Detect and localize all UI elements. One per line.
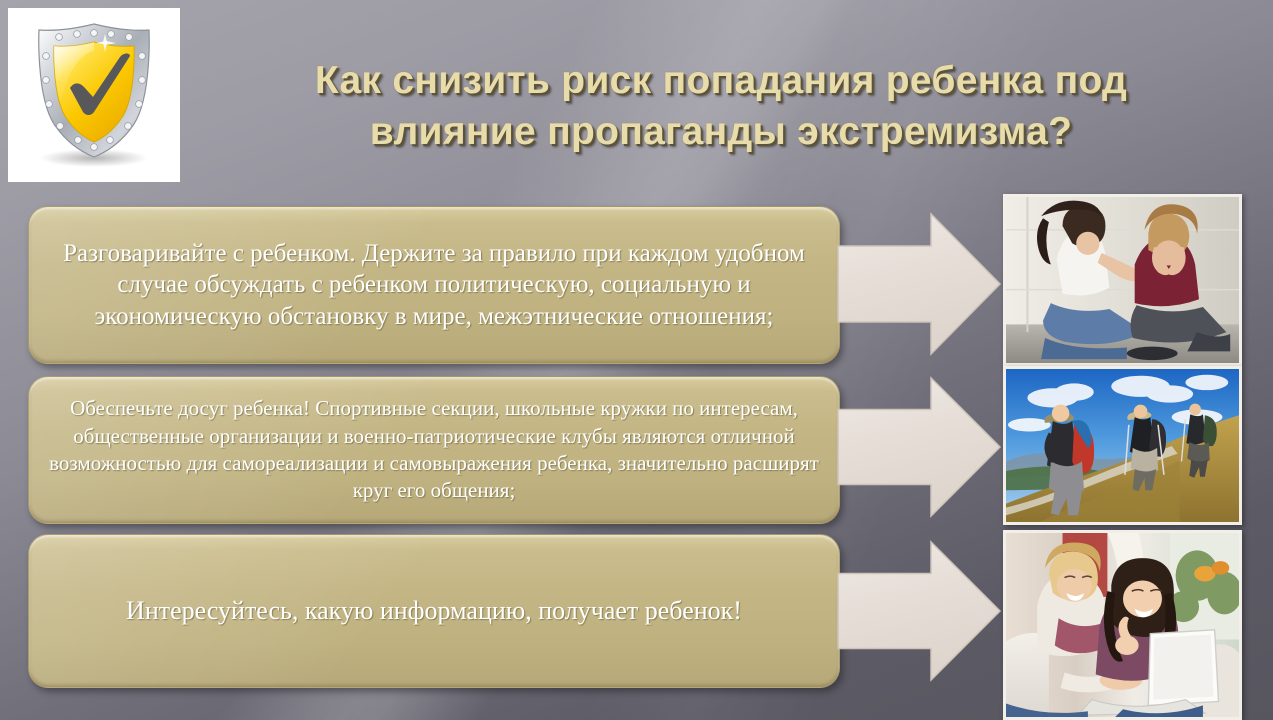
arrow-right-icon-2 xyxy=(838,372,1000,522)
slide-canvas: Как снизить риск попадания ребенка под в… xyxy=(0,0,1273,720)
page-title-line-2: влияние пропаганды экстремизма? xyxy=(186,106,1256,157)
arrow-right-icon-1 xyxy=(838,208,1000,360)
advice-box-3[interactable]: Интересуйтесь, какую информацию, получае… xyxy=(28,534,840,688)
photo-mother-daughter-laptop xyxy=(1003,530,1242,720)
page-title: Как снизить риск попадания ребенка под в… xyxy=(186,55,1256,158)
shield-check-icon xyxy=(8,8,180,182)
advice-row-2: Обеспечьте досуг ребенка! Спортивные сек… xyxy=(0,376,1273,524)
shield-logo-plate xyxy=(8,8,180,182)
photo-mother-daughter-laptop-art xyxy=(1006,533,1239,717)
advice-text-1: Разговаривайте с ребенком. Держите за пр… xyxy=(47,238,821,333)
photo-two-girls-talking-art xyxy=(1006,197,1239,363)
advice-box-1[interactable]: Разговаривайте с ребенком. Держите за пр… xyxy=(28,206,840,364)
advice-row-3: Интересуйтесь, какую информацию, получае… xyxy=(0,534,1273,688)
advice-text-2: Обеспечьте досуг ребенка! Спортивные сек… xyxy=(47,395,821,504)
photo-hikers-on-ridge xyxy=(1003,366,1242,525)
advice-row-1: Разговаривайте с ребенком. Держите за пр… xyxy=(0,206,1273,364)
advice-box-2[interactable]: Обеспечьте досуг ребенка! Спортивные сек… xyxy=(28,376,840,524)
photo-two-girls-talking xyxy=(1003,194,1242,366)
photo-hikers-on-ridge-art xyxy=(1006,369,1239,522)
arrow-right-icon-3 xyxy=(838,536,1000,686)
advice-text-3: Интересуйтесь, какую информацию, получае… xyxy=(47,595,821,628)
page-title-line-1: Как снизить риск попадания ребенка под xyxy=(186,55,1256,106)
